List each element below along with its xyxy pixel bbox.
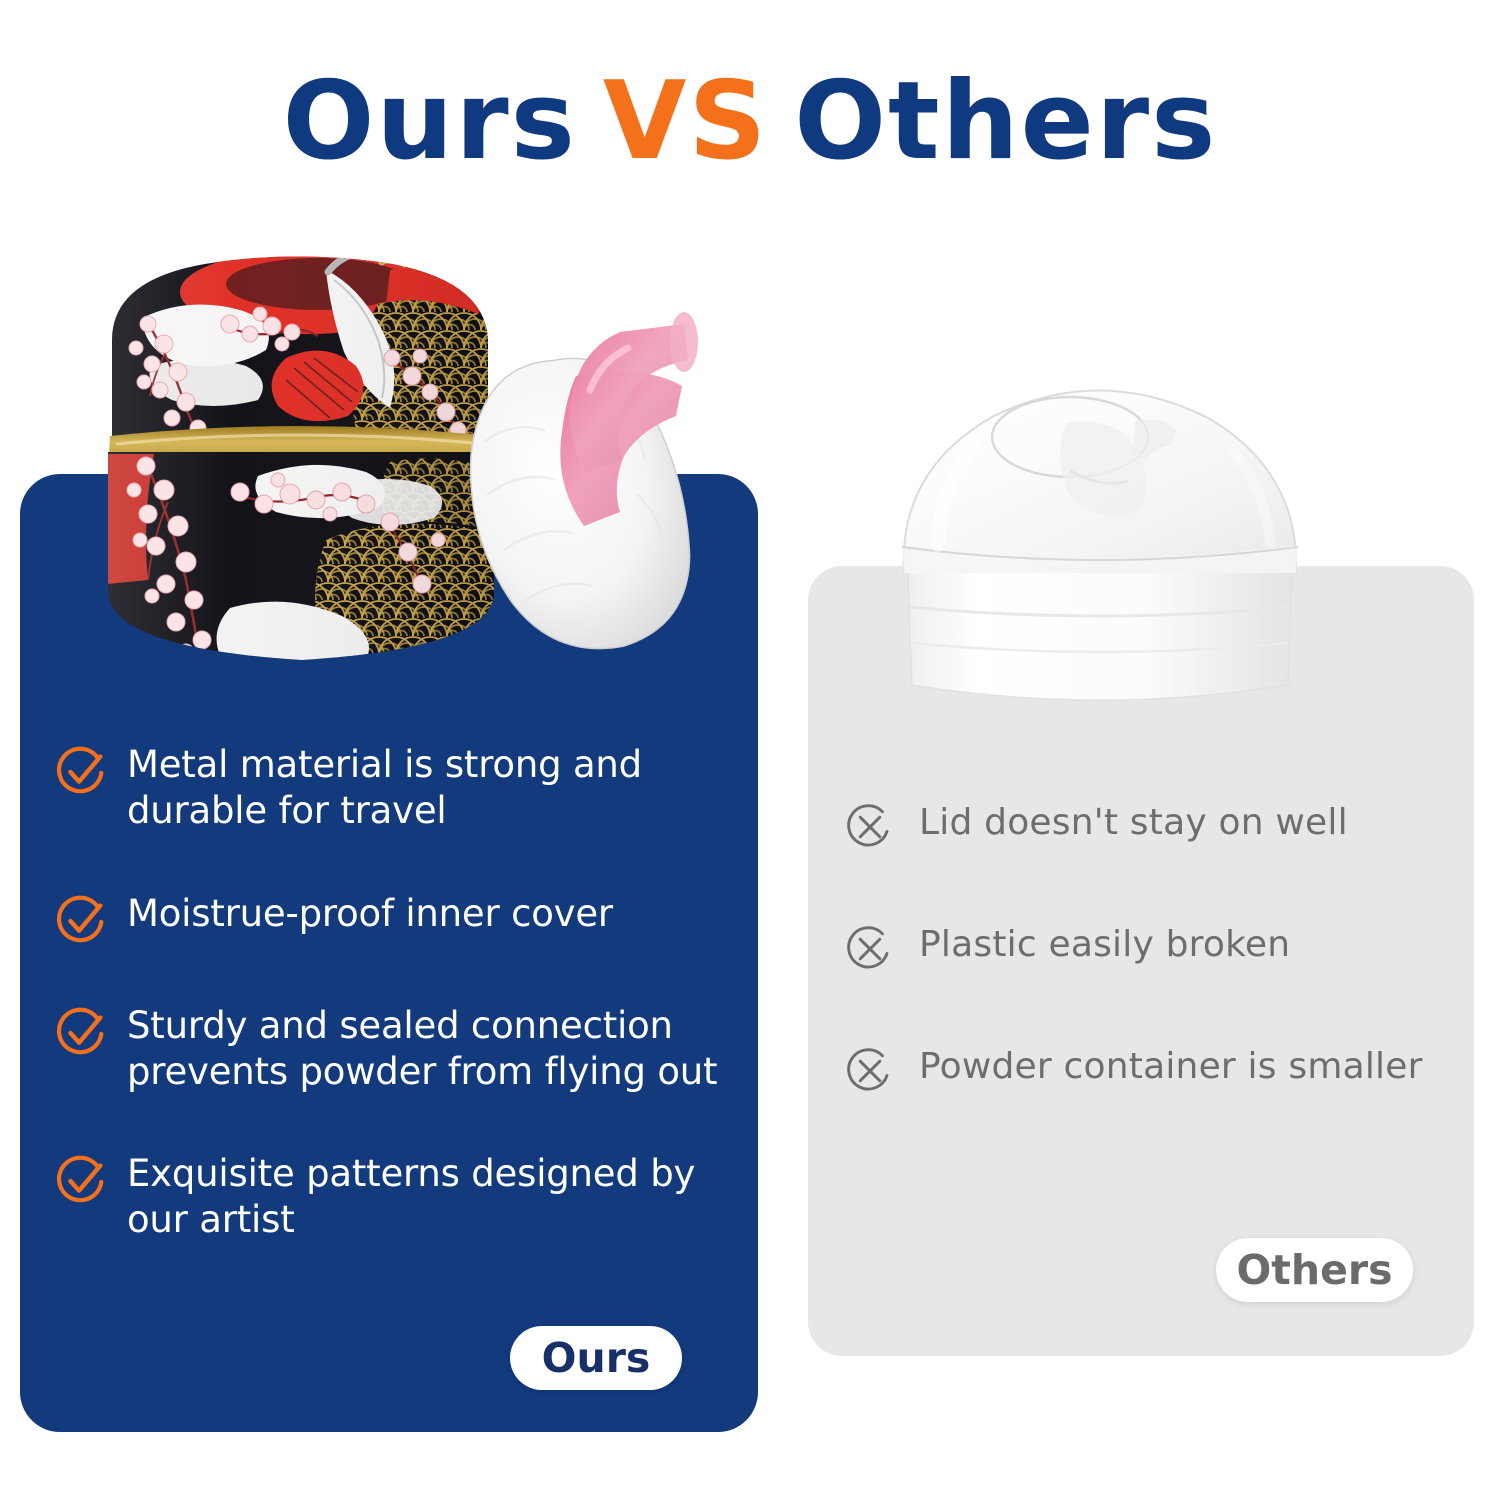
list-item: Moistrue-proof inner cover bbox=[55, 891, 735, 947]
comparison-infographic: OursVSOthers bbox=[0, 0, 1500, 1500]
check-circle-icon bbox=[55, 1153, 109, 1207]
title-word-vs: VS bbox=[603, 59, 768, 184]
title-word-others: Others bbox=[794, 59, 1217, 184]
feature-text: Metal material is strong and durable for… bbox=[127, 742, 735, 835]
x-circle-icon bbox=[845, 1046, 895, 1096]
page-title: OursVSOthers bbox=[0, 68, 1500, 176]
feature-text: Plastic easily broken bbox=[919, 922, 1290, 967]
ours-badge: Ours bbox=[510, 1326, 682, 1390]
ours-feature-list: Metal material is strong and durable for… bbox=[55, 742, 735, 1300]
feature-text: Moistrue-proof inner cover bbox=[127, 891, 613, 937]
check-circle-icon bbox=[55, 744, 109, 798]
product-image-ours bbox=[90, 240, 740, 680]
list-item: Sturdy and sealed connection prevents po… bbox=[55, 1003, 735, 1096]
list-item: Lid doesn't stay on well bbox=[845, 800, 1460, 852]
plastic-jar-base bbox=[908, 571, 1292, 700]
product-image-others bbox=[880, 375, 1320, 745]
feature-text: Exquisite patterns designed by our artis… bbox=[127, 1151, 735, 1244]
list-item: Metal material is strong and durable for… bbox=[55, 742, 735, 835]
others-feature-list: Lid doesn't stay on well Plastic easily … bbox=[845, 800, 1460, 1166]
feature-text: Powder container is smaller bbox=[919, 1044, 1423, 1089]
feature-text: Lid doesn't stay on well bbox=[919, 800, 1348, 845]
list-item: Plastic easily broken bbox=[845, 922, 1460, 974]
x-circle-icon bbox=[845, 924, 895, 974]
check-circle-icon bbox=[55, 1005, 109, 1059]
check-circle-icon bbox=[55, 893, 109, 947]
list-item: Exquisite patterns designed by our artis… bbox=[55, 1151, 735, 1244]
title-word-ours: Ours bbox=[283, 59, 577, 184]
others-badge: Others bbox=[1216, 1238, 1413, 1302]
plastic-jar-clear-dome-lid bbox=[902, 390, 1298, 573]
x-circle-icon bbox=[845, 802, 895, 852]
list-item: Powder container is smaller bbox=[845, 1044, 1460, 1096]
feature-text: Sturdy and sealed connection prevents po… bbox=[127, 1003, 735, 1096]
